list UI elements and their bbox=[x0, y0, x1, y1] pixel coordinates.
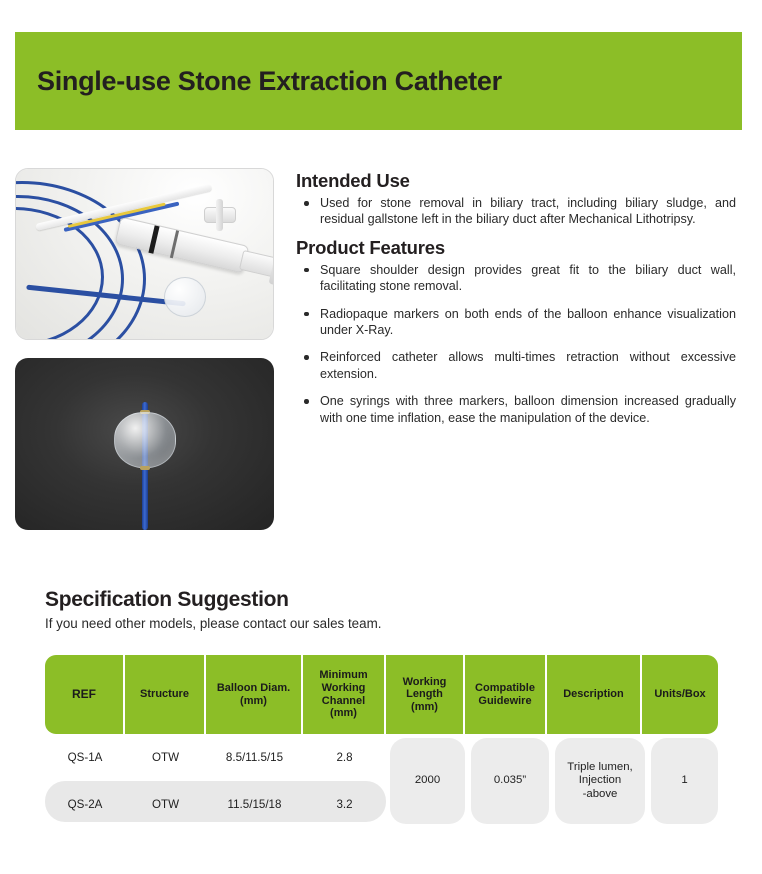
catheter-kit-photo bbox=[15, 168, 274, 340]
table-data-grid: QS-1A QS-2A OTW OTW 8.5/11.5/15 11.5/15/… bbox=[45, 734, 718, 828]
list-item: Reinforced catheter allows multi-times r… bbox=[296, 349, 736, 382]
header-line: Structure bbox=[140, 688, 189, 701]
header-line: (mm) bbox=[403, 701, 447, 714]
header-line: Working bbox=[319, 682, 367, 695]
table-header-row: REF Structure Balloon Diam. (mm) Minimum… bbox=[45, 655, 718, 734]
header-line: Minimum bbox=[319, 669, 367, 682]
list-item: One syrings with three markers, balloon … bbox=[296, 393, 736, 426]
syringe-marker-band bbox=[148, 225, 159, 253]
header-line: (mm) bbox=[319, 707, 367, 720]
inflated-balloon-photo bbox=[15, 358, 274, 530]
column-header-units-box: Units/Box bbox=[642, 655, 718, 734]
header-line: Balloon Diam. bbox=[217, 682, 290, 695]
column-structure: OTW OTW bbox=[125, 734, 206, 828]
column-balloon-diam: 8.5/11.5/15 11.5/15/18 bbox=[206, 734, 303, 828]
header-line: Working bbox=[403, 676, 447, 689]
column-header-working-length: Working Length (mm) bbox=[386, 655, 465, 734]
balloon-deflated bbox=[164, 277, 206, 317]
syringe-marker-band-2 bbox=[170, 230, 179, 258]
table-row: QS-2A bbox=[45, 781, 125, 828]
header-line: REF bbox=[72, 688, 96, 701]
column-header-compatible-guidewire: Compatible Guidewire bbox=[465, 655, 547, 734]
description-column: Intended Use Used for stone removal in b… bbox=[296, 170, 736, 426]
table-row: OTW bbox=[125, 734, 206, 781]
list-item: Used for stone removal in biliary tract,… bbox=[296, 195, 736, 228]
list-item: Square shoulder design provides great fi… bbox=[296, 262, 736, 295]
header-line: Description bbox=[563, 688, 624, 701]
header-line: Channel bbox=[319, 695, 367, 708]
table-row: 2.8 bbox=[303, 734, 386, 781]
product-features-heading: Product Features bbox=[296, 237, 736, 259]
specification-section-header: Specification Suggestion If you need oth… bbox=[45, 588, 381, 631]
product-datasheet-page: Single-use Stone Extraction Catheter Int… bbox=[0, 0, 762, 874]
column-min-working-channel: 2.8 3.2 bbox=[303, 734, 386, 828]
product-features-list: Square shoulder design provides great fi… bbox=[296, 262, 736, 426]
table-row: 8.5/11.5/15 bbox=[206, 734, 303, 781]
specification-heading: Specification Suggestion bbox=[45, 588, 381, 612]
header-banner: Single-use Stone Extraction Catheter bbox=[15, 32, 742, 130]
balloon-inflated bbox=[114, 412, 176, 468]
table-body: 2000 0.035” Triple lumen, Injection -abo… bbox=[45, 734, 718, 828]
header-line: Units/Box bbox=[654, 688, 705, 701]
radiopaque-marker-distal bbox=[140, 466, 150, 470]
table-row: 11.5/15/18 bbox=[206, 781, 303, 828]
specification-table: REF Structure Balloon Diam. (mm) Minimum… bbox=[45, 655, 718, 828]
header-line: Guidewire bbox=[475, 695, 535, 708]
column-header-structure: Structure bbox=[125, 655, 206, 734]
column-header-balloon-diam: Balloon Diam. (mm) bbox=[206, 655, 303, 734]
header-line: (mm) bbox=[217, 695, 290, 708]
connector-hub-arm bbox=[216, 199, 223, 231]
column-header-description: Description bbox=[547, 655, 642, 734]
column-ref: QS-1A QS-2A bbox=[45, 734, 125, 828]
intended-use-list: Used for stone removal in biliary tract,… bbox=[296, 195, 736, 228]
table-row: QS-1A bbox=[45, 734, 125, 781]
header-line: Length bbox=[403, 688, 447, 701]
table-row: OTW bbox=[125, 781, 206, 828]
column-header-min-working-channel: Minimum Working Channel (mm) bbox=[303, 655, 386, 734]
specification-subtitle: If you need other models, please contact… bbox=[45, 616, 381, 631]
intended-use-heading: Intended Use bbox=[296, 170, 736, 192]
table-row: 3.2 bbox=[303, 781, 386, 828]
header-line: Compatible bbox=[475, 682, 535, 695]
column-header-ref: REF bbox=[45, 655, 125, 734]
page-title: Single-use Stone Extraction Catheter bbox=[15, 66, 502, 97]
list-item: Radiopaque markers on both ends of the b… bbox=[296, 306, 736, 339]
